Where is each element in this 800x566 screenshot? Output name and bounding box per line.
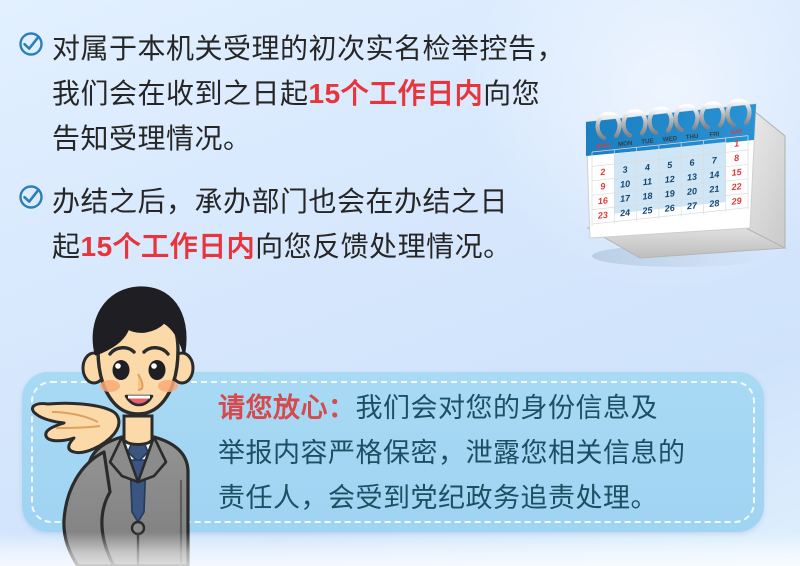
calendar-day-cell: 18: [642, 191, 653, 202]
bullet-line: 对属于本机关受理的初次实名检举控告，: [52, 26, 565, 71]
text-span: 办结之后，承办部门也会在办结之日: [52, 186, 508, 217]
calendar-day-cell: 1: [734, 138, 740, 148]
bullet-line: 起15个工作日内向您反馈处理情况。: [52, 224, 512, 269]
bullet-line: 办结之后，承办部门也会在办结之日: [52, 179, 512, 224]
blush-right: [158, 380, 178, 392]
calendar-weekday-header: FRI: [709, 131, 720, 139]
eye-right: [149, 360, 166, 380]
calendar-svg: SUNMONTUEWEDTHUFRISAT1234567891011121314…: [580, 78, 795, 273]
text-span: 对属于本机关受理的初次实名检举控告，: [52, 33, 565, 64]
calendar-day-cell: 26: [663, 203, 676, 214]
text-span: 我们会在收到之日起: [52, 78, 309, 109]
bullet-item: 办结之后，承办部门也会在办结之日起15个工作日内向您反馈处理情况。: [12, 179, 632, 269]
highlight-deadline: 15个工作日内: [309, 78, 484, 109]
card-text-span: 我们会对您的身份信息及: [356, 393, 659, 423]
calendar-day-cell: 11: [642, 176, 652, 187]
man-svg: [18, 276, 258, 566]
neck: [124, 416, 152, 445]
reassurance-card-text: 请您放心：我们会对您的身份信息及举报内容严格保密，泄露您相关信息的责任人，会受到…: [218, 386, 763, 521]
calendar-day-cell: 2: [599, 167, 606, 178]
calendar-day-cell: 23: [596, 210, 608, 221]
check-circle-icon: [18, 31, 44, 57]
bullet-list: 对属于本机关受理的初次实名检举控告，我们会在收到之日起15个工作日内向您告知受理…: [12, 26, 632, 287]
calendar-day-cell: 19: [664, 188, 675, 199]
card-line: 请您放心：我们会对您的身份信息及: [218, 386, 763, 431]
card-text-span: 举报内容严格保密，泄露您相关信息的: [218, 438, 686, 468]
calendar-day-cell: 3: [622, 164, 628, 174]
calendar-day-cell: 25: [641, 205, 654, 216]
eye-right-glint: [151, 363, 157, 369]
card-text-span: 责任人，会受到党纪政务追责处理。: [218, 483, 658, 513]
calendar-day-cell: 9: [600, 181, 606, 191]
calendar-day-cell: 14: [709, 169, 720, 180]
desk-calendar-illustration: SUNMONTUEWEDTHUFRISAT1234567891011121314…: [580, 78, 795, 273]
bullet-item: 对属于本机关受理的初次实名检举控告，我们会在收到之日起15个工作日内向您告知受理…: [12, 26, 632, 161]
calendar-weekday-header: SAT: [730, 128, 743, 136]
poster-canvas: 对属于本机关受理的初次实名检举控告，我们会在收到之日起15个工作日内向您告知受理…: [0, 0, 800, 566]
calendar-weekday-header: THU: [685, 133, 699, 141]
calendar-day-cell: 8: [734, 153, 740, 163]
calendar-day-cell: 24: [619, 207, 631, 218]
highlight-deadline: 15个工作日内: [81, 231, 256, 262]
text-span: 向您: [483, 78, 540, 109]
blush-left: [100, 380, 120, 392]
calendar-day-cell: 28: [708, 198, 720, 209]
calendar-day-cell: 10: [620, 179, 631, 190]
calendar-day-cell: 13: [686, 172, 697, 183]
bullet-text: 办结之后，承办部门也会在办结之日起15个工作日内向您反馈处理情况。: [52, 179, 512, 269]
bullet-text: 对属于本机关受理的初次实名检举控告，我们会在收到之日起15个工作日内向您告知受理…: [52, 26, 565, 161]
calendar-day-cell: 29: [730, 196, 742, 207]
text-span: 起: [52, 231, 81, 262]
calendar-weekday-header: SUN: [596, 142, 610, 150]
bottom-light-strip: [0, 532, 800, 566]
calendar-weekday-header: TUE: [641, 138, 654, 146]
text-span: 告知受理情况。: [52, 123, 252, 154]
calendar-day-cell: 27: [685, 200, 698, 211]
calendar-day-cell: 22: [730, 181, 742, 192]
calendar-day-cell: 12: [664, 174, 675, 185]
card-line: 举报内容严格保密，泄露您相关信息的: [218, 431, 763, 476]
text-span: 向您反馈处理情况。: [255, 231, 512, 262]
card-line: 责任人，会受到党纪政务追责处理。: [218, 476, 763, 521]
check-circle-icon: [18, 184, 44, 210]
bullet-line: 告知受理情况。: [52, 116, 565, 161]
calendar-day-cell: 21: [708, 184, 720, 195]
cartoon-man-illustration: [18, 276, 258, 566]
eye-left-glint: [115, 363, 121, 369]
bullet-line: 我们会在收到之日起15个工作日内向您: [52, 71, 565, 116]
calendar-day-cell: 4: [643, 162, 650, 173]
eye-left: [113, 360, 130, 380]
calendar-day-cell: 20: [685, 186, 697, 197]
